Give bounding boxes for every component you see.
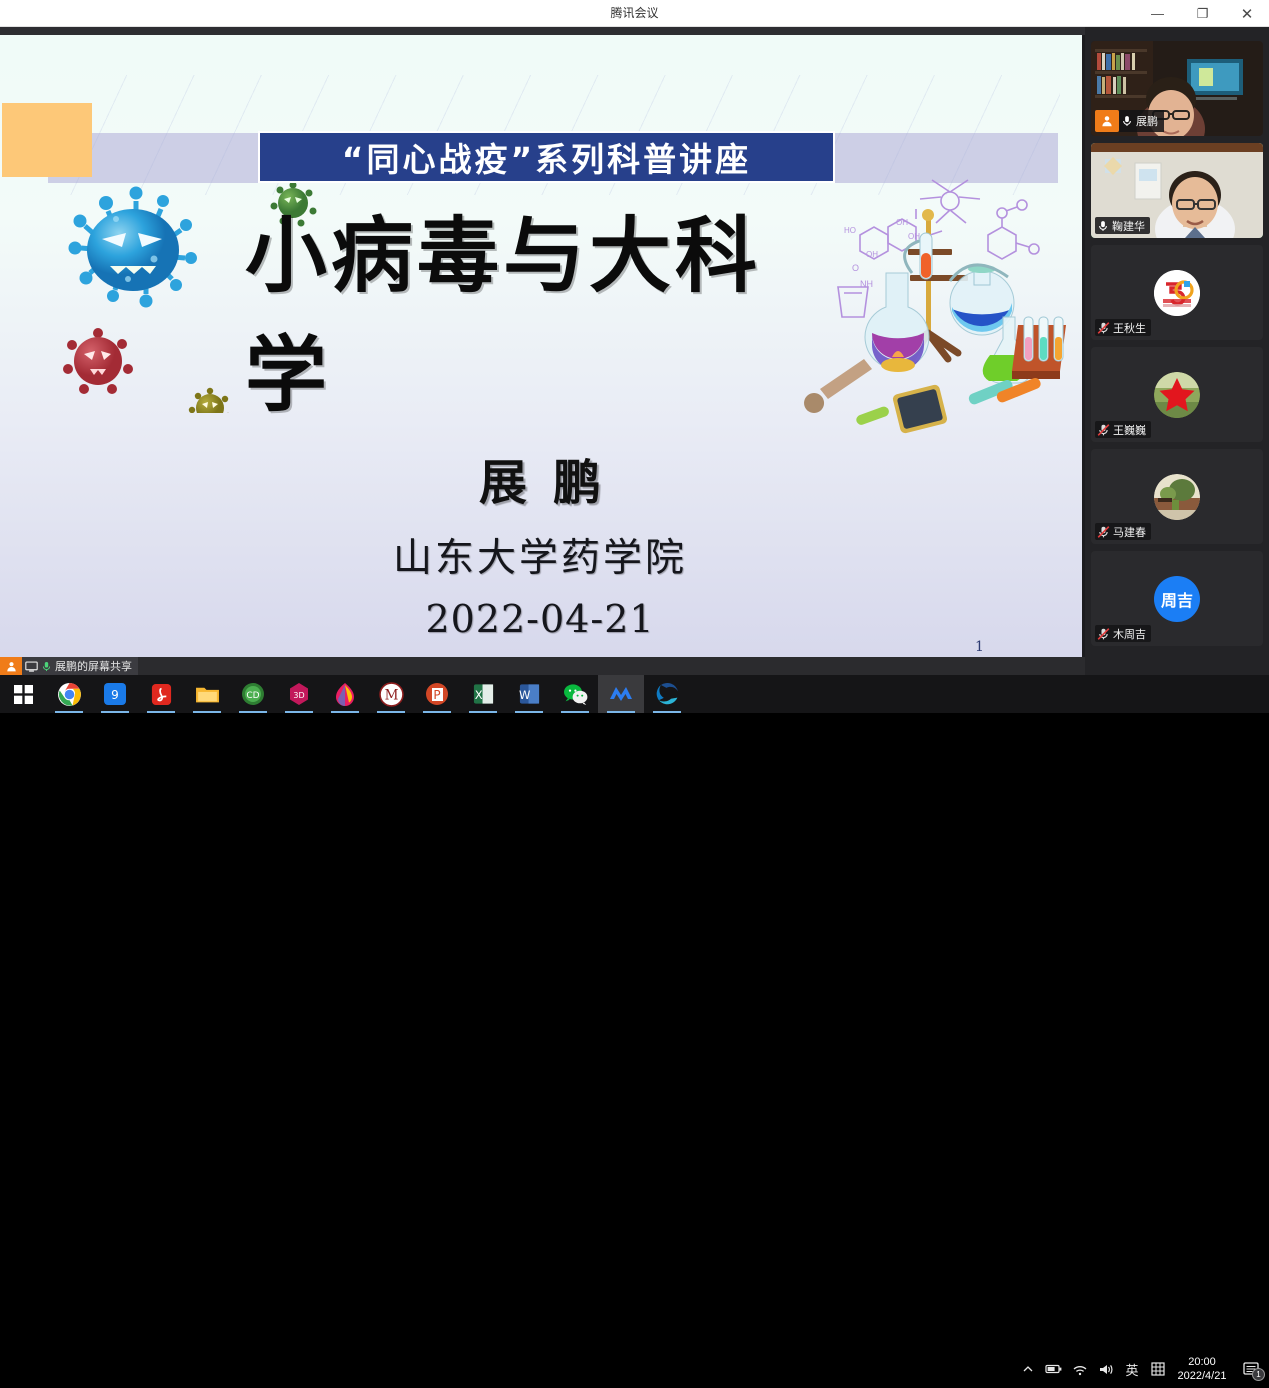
svg-text:X: X [474,688,482,702]
participant-tile[interactable]: 王巍巍 [1091,347,1263,442]
participant-name-chip: 木周吉 [1095,625,1151,642]
svg-text:M: M [384,687,398,703]
window-title: 腾讯会议 [0,0,1269,27]
participant-name-chip: 鞠建华 [1095,217,1150,234]
participant-name: 展鹏 [1136,113,1158,129]
screen-share-status-bar: 展鹏的屏幕共享 [0,657,1085,675]
presentation-slide: “同心战疫”系列科普讲座 [0,35,1082,657]
restore-button[interactable]: ❐ [1180,0,1225,27]
svg-text:HO: HO [844,226,856,235]
mic-icon [1097,219,1109,233]
pens [855,376,1042,426]
mendeley-icon[interactable]: M [368,675,414,713]
svg-text:O: O [852,263,859,273]
clock-date: 2022/4/21 [1178,1369,1227,1383]
window-title-bar: 腾讯会议 — ❐ ✕ [0,0,1269,27]
taskbar-clock[interactable]: 20:00 2022/4/21 [1171,1350,1233,1388]
participant-rail[interactable]: 展鹏 [1085,27,1269,675]
participant-name-chip: 王秋生 [1095,319,1151,336]
mic-icon [41,660,52,673]
start-button[interactable] [0,675,46,713]
file-explorer-icon[interactable] [184,675,230,713]
monitor-icon [25,660,38,673]
shared-screen-stage[interactable]: “同心战疫”系列科普讲座 [0,35,1085,657]
slide-banner-text: “同心战疫”系列科普讲座 [342,133,751,181]
participant-tile[interactable]: 周吉 木周吉 [1091,551,1263,646]
wps-office-icon[interactable]: 9 [92,675,138,713]
round-flask-purple [865,273,929,372]
system-tray[interactable]: 英 20:00 2022/4/21 1 [1015,1350,1269,1388]
participant-name-chip: 王巍巍 [1095,421,1151,438]
mic-muted-icon [1097,321,1110,335]
svg-text:P: P [433,688,440,702]
close-button[interactable]: ✕ [1225,0,1269,27]
avatar [1154,474,1200,520]
share-label-text: 展鹏的屏幕共享 [55,658,132,674]
notification-center-button[interactable]: 1 [1233,1350,1269,1388]
share-label-chip: 展鹏的屏幕共享 [22,657,138,675]
svg-text:OH: OH [908,232,920,241]
notification-badge: 1 [1252,1368,1265,1381]
participant-name: 木周吉 [1113,626,1146,642]
clock-time: 20:00 [1188,1355,1216,1369]
meeting-window-body: “同心战疫”系列科普讲座 [0,27,1269,675]
window-controls: — ❐ ✕ [1135,0,1269,27]
participant-tile[interactable]: 王秋生 [1091,245,1263,340]
participant-name: 王巍巍 [1113,422,1146,438]
test-tube-rack [1012,317,1066,379]
slide-banner: “同心战疫”系列科普讲座 [258,131,835,183]
ime-language-indicator[interactable]: 英 [1119,1350,1145,1388]
windows-taskbar[interactable]: 9 CD 3D M [0,675,1269,713]
slide-affiliation: 山东大学药学院 [290,527,790,583]
participant-name-chip: 马建春 [1095,523,1151,540]
microsoft-edge-icon[interactable] [644,675,690,713]
keyboard-icon[interactable] [1145,1350,1171,1388]
tencent-meeting-icon[interactable] [598,675,644,713]
excel-icon[interactable]: X [460,675,506,713]
participant-tile[interactable]: 马建春 [1091,449,1263,544]
svg-text:NH: NH [860,279,873,289]
svg-text:OH: OH [896,218,908,227]
host-badge [1095,110,1119,132]
slide-speaker-name: 展鹏 [340,443,740,513]
wechat-icon[interactable] [552,675,598,713]
volume-icon[interactable] [1093,1350,1119,1388]
mic-muted-icon [1097,627,1110,641]
google-chrome-icon[interactable] [46,675,92,713]
svg-text:OH: OH [866,250,878,259]
smartphone [892,384,948,434]
paint-3d-icon[interactable]: 3D [276,675,322,713]
minimize-button[interactable]: — [1135,0,1180,27]
adobe-acrobat-icon[interactable] [138,675,184,713]
coreldraw-icon[interactable]: CD [230,675,276,713]
svg-text:CD: CD [246,691,259,701]
slide-date: 2022-04-21 [290,597,790,641]
battery-icon[interactable] [1041,1350,1067,1388]
orange-accent-rectangle [2,103,92,177]
test-tube-orange [920,233,932,279]
word-icon[interactable]: W [506,675,552,713]
avatar-initials: 周吉 [1161,587,1193,611]
host-person-icon [0,657,22,675]
participant-name: 王秋生 [1113,320,1146,336]
participant-name: 马建春 [1113,524,1146,540]
mic-muted-icon [1097,525,1110,539]
participant-tile[interactable]: 展鹏 [1091,41,1263,136]
paint-icon[interactable] [322,675,368,713]
participant-tile[interactable]: 鞠建华 [1091,143,1263,238]
avatar [1154,270,1200,316]
slide-page-number: 1 [975,639,984,655]
powerpoint-icon[interactable]: P [414,675,460,713]
participant-name: 鞠建华 [1112,218,1145,234]
wifi-icon[interactable] [1067,1350,1093,1388]
mic-muted-icon [1097,423,1110,437]
slide-main-title: 小病毒与大科学 [245,253,845,363]
svg-text:3D: 3D [293,691,304,700]
svg-text:9: 9 [111,688,119,702]
mic-icon [1121,114,1133,128]
show-hidden-icons-chevron[interactable] [1015,1350,1041,1388]
participant-name-chip: 展鹏 [1119,110,1164,132]
avatar: 周吉 [1154,576,1200,622]
share-top-strip [0,27,1085,35]
svg-text:W: W [519,688,530,702]
avatar [1154,372,1200,418]
